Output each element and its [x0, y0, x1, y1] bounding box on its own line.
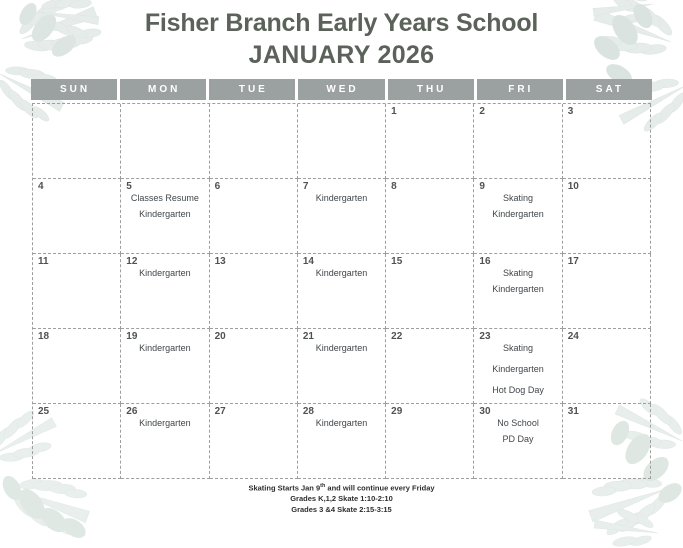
day-number: 19	[126, 332, 137, 342]
day-cell-empty[interactable]	[298, 104, 386, 179]
day-number: 28	[303, 407, 314, 417]
day-cell-23[interactable]: 23SkatingKindergartenHot Dog Day	[474, 329, 562, 404]
day-number: 29	[391, 407, 402, 417]
day-events: SkatingKindergarten	[474, 269, 561, 301]
day-cell-empty[interactable]	[33, 104, 121, 179]
day-number: 13	[215, 257, 226, 267]
day-cell-14[interactable]: 14Kindergarten	[298, 254, 386, 329]
event-label: Kindergarten	[477, 210, 558, 219]
day-events: Kindergarten	[298, 419, 385, 435]
event-label: Kindergarten	[301, 344, 382, 353]
day-number: 30	[479, 407, 490, 417]
day-events: SkatingKindergarten	[474, 194, 561, 226]
title-block: Fisher Branch Early Years School JANUARY…	[0, 0, 683, 70]
day-number: 9	[479, 182, 485, 192]
day-number: 12	[126, 257, 137, 267]
day-number: 8	[391, 182, 397, 192]
day-cell-27[interactable]: 27	[210, 404, 298, 479]
day-cell-7[interactable]: 7Kindergarten	[298, 179, 386, 254]
weekday-header-sat: SAT	[566, 79, 652, 100]
event-label: Skating	[477, 344, 558, 353]
day-cell-empty[interactable]	[210, 104, 298, 179]
footer-line-1-after: and will continue every Friday	[325, 483, 434, 492]
day-number: 1	[391, 107, 397, 117]
day-cell-15[interactable]: 15	[386, 254, 474, 329]
day-number: 7	[303, 182, 309, 192]
weekday-header-row: SUNMONTUEWEDTHUFRISAT	[31, 79, 652, 100]
event-label: Skating	[477, 194, 558, 203]
event-label: PD Day	[477, 435, 558, 444]
day-cell-2[interactable]: 2	[474, 104, 562, 179]
day-events: No SchoolPD Day	[474, 419, 561, 451]
event-label: Hot Dog Day	[477, 386, 558, 395]
day-number: 31	[568, 407, 579, 417]
day-cell-22[interactable]: 22	[386, 329, 474, 404]
event-label: Kindergarten	[477, 285, 558, 294]
day-cell-29[interactable]: 29	[386, 404, 474, 479]
day-cell-8[interactable]: 8	[386, 179, 474, 254]
day-events: Classes ResumeKindergarten	[121, 194, 208, 226]
weekday-header-tue: TUE	[209, 79, 295, 100]
day-events: Kindergarten	[298, 269, 385, 285]
day-number: 18	[38, 332, 49, 342]
event-label: Kindergarten	[124, 269, 205, 278]
day-cell-9[interactable]: 9SkatingKindergarten	[474, 179, 562, 254]
day-number: 25	[38, 407, 49, 417]
day-cell-16[interactable]: 16SkatingKindergarten	[474, 254, 562, 329]
day-number: 15	[391, 257, 402, 267]
day-number: 2	[479, 107, 485, 117]
event-label: Kindergarten	[477, 365, 558, 374]
day-events: Kindergarten	[298, 344, 385, 360]
day-number: 20	[215, 332, 226, 342]
footer-line-1-before: Skating Starts Jan 9	[248, 483, 320, 492]
day-cell-6[interactable]: 6	[210, 179, 298, 254]
calendar-footer-note: Skating Starts Jan 9th and will continue…	[0, 483, 683, 516]
day-number: 24	[568, 332, 579, 342]
weekday-header-sun: SUN	[31, 79, 117, 100]
day-cell-3[interactable]: 3	[563, 104, 651, 179]
day-cell-25[interactable]: 25	[33, 404, 121, 479]
day-number: 22	[391, 332, 402, 342]
page-title: Fisher Branch Early Years School	[0, 9, 683, 38]
day-cell-5[interactable]: 5Classes ResumeKindergarten	[121, 179, 209, 254]
footer-line-3: Grades 3 &4 Skate 2:15-3:15	[0, 505, 683, 516]
day-cell-4[interactable]: 4	[33, 179, 121, 254]
day-events: Kindergarten	[298, 194, 385, 210]
day-events: Kindergarten	[121, 269, 208, 285]
weekday-header-mon: MON	[120, 79, 206, 100]
day-number: 26	[126, 407, 137, 417]
event-label: Skating	[477, 269, 558, 278]
day-cell-24[interactable]: 24	[563, 329, 651, 404]
day-cell-28[interactable]: 28Kindergarten	[298, 404, 386, 479]
weekday-header-fri: FRI	[477, 79, 563, 100]
footer-line-1: Skating Starts Jan 9th and will continue…	[0, 483, 683, 494]
day-cell-13[interactable]: 13	[210, 254, 298, 329]
day-cell-12[interactable]: 12Kindergarten	[121, 254, 209, 329]
day-cell-1[interactable]: 1	[386, 104, 474, 179]
day-cell-26[interactable]: 26Kindergarten	[121, 404, 209, 479]
day-number: 14	[303, 257, 314, 267]
month-year-title: JANUARY 2026	[0, 40, 683, 70]
day-events: Kindergarten	[121, 419, 208, 435]
weekday-header-thu: THU	[388, 79, 474, 100]
event-label: Kindergarten	[301, 419, 382, 428]
day-cell-10[interactable]: 10	[563, 179, 651, 254]
day-number: 6	[215, 182, 221, 192]
day-number: 5	[126, 182, 132, 192]
day-number: 3	[568, 107, 574, 117]
day-number: 27	[215, 407, 226, 417]
day-number: 21	[303, 332, 314, 342]
day-cell-18[interactable]: 18	[33, 329, 121, 404]
event-label: Kindergarten	[124, 419, 205, 428]
day-number: 11	[38, 257, 49, 267]
footer-line-2: Grades K,1,2 Skate 1:10-2:10	[0, 494, 683, 505]
event-label: Kindergarten	[301, 194, 382, 203]
day-number: 16	[479, 257, 490, 267]
event-label: Kindergarten	[301, 269, 382, 278]
day-number: 17	[568, 257, 579, 267]
day-cell-21[interactable]: 21Kindergarten	[298, 329, 386, 404]
day-number: 4	[38, 182, 44, 192]
calendar-page: Fisher Branch Early Years School JANUARY…	[0, 0, 683, 526]
event-label: Kindergarten	[124, 210, 205, 219]
day-cell-19[interactable]: 19Kindergarten	[121, 329, 209, 404]
day-cell-31[interactable]: 31	[563, 404, 651, 479]
day-cell-30[interactable]: 30No SchoolPD Day	[474, 404, 562, 479]
day-number: 23	[479, 332, 490, 342]
weekday-header-wed: WED	[298, 79, 384, 100]
day-cell-17[interactable]: 17	[563, 254, 651, 329]
day-events: Kindergarten	[121, 344, 208, 360]
day-number: 10	[568, 182, 579, 192]
event-label: Classes Resume	[124, 194, 205, 203]
day-events: SkatingKindergartenHot Dog Day	[474, 344, 561, 404]
calendar-grid: 12345Classes ResumeKindergarten67Kinderg…	[32, 103, 651, 479]
day-cell-20[interactable]: 20	[210, 329, 298, 404]
event-label: No School	[477, 419, 558, 428]
day-cell-11[interactable]: 11	[33, 254, 121, 329]
event-label: Kindergarten	[124, 344, 205, 353]
day-cell-empty[interactable]	[121, 104, 209, 179]
